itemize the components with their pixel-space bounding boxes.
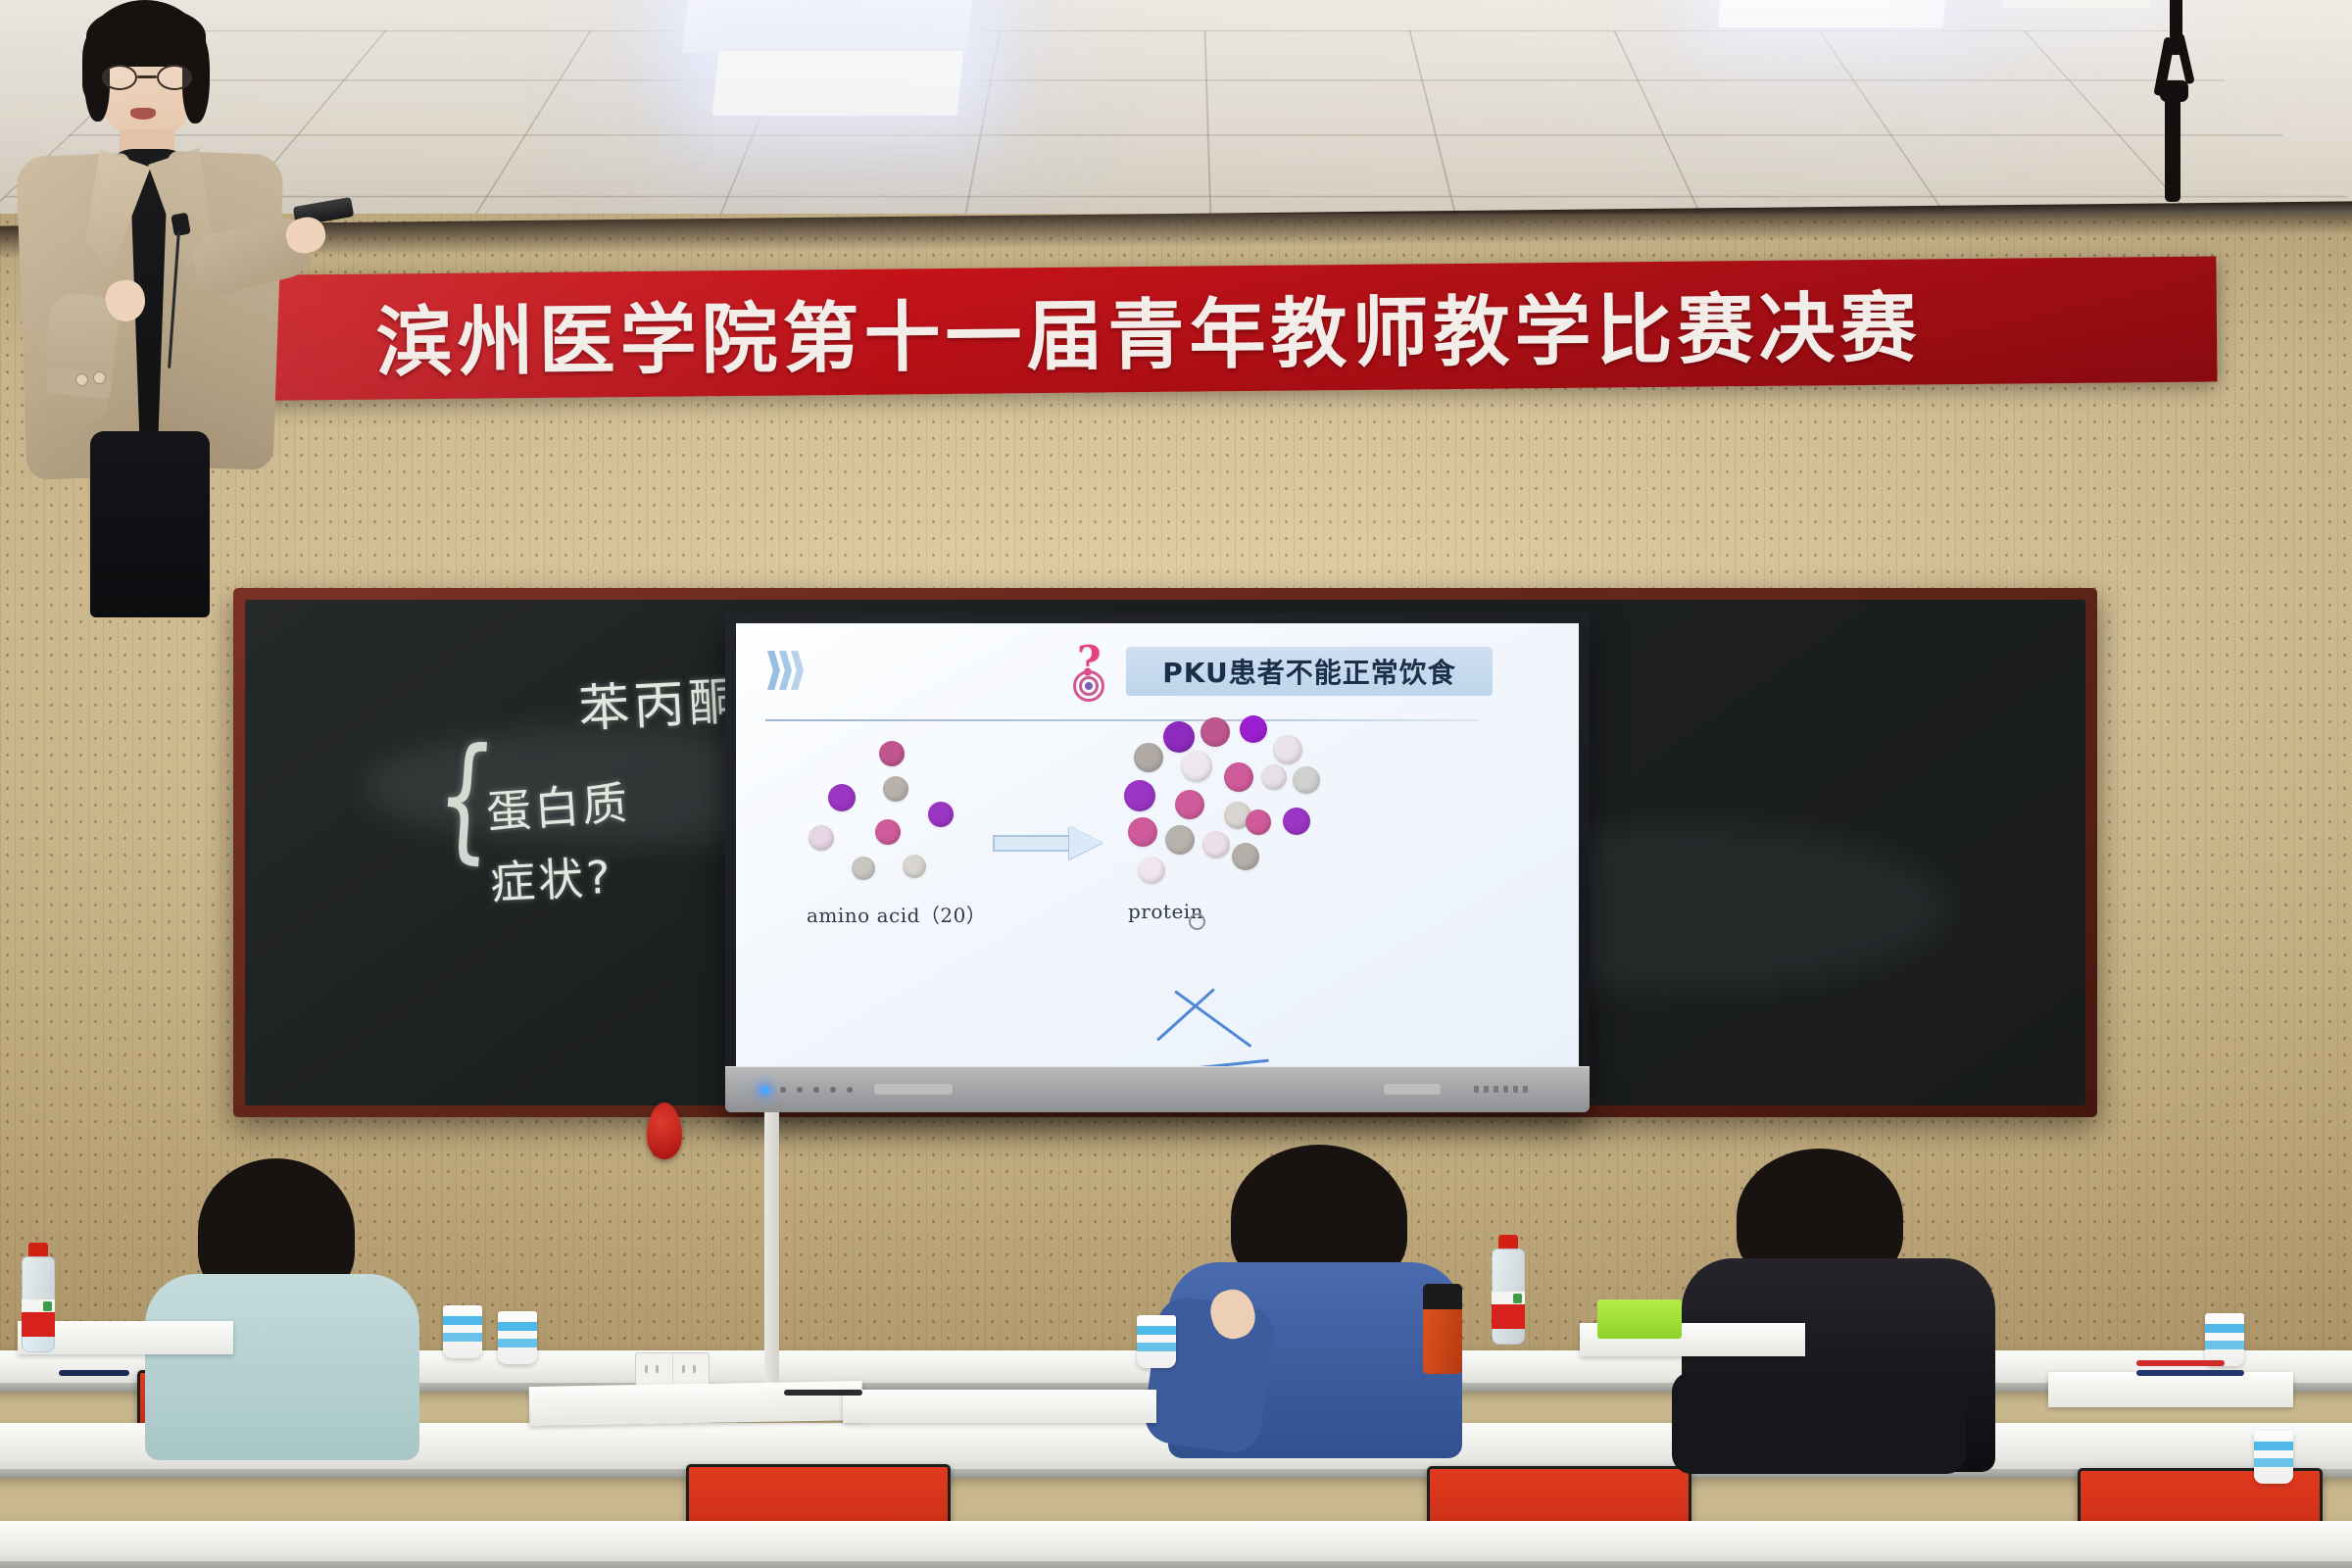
paper-cup[interactable]: [443, 1305, 482, 1358]
paper-stack[interactable]: [843, 1390, 1156, 1423]
presenter-trousers: [90, 431, 210, 617]
lapel-microphone-icon: [171, 213, 191, 237]
circle-cursor-icon[interactable]: [1189, 913, 1205, 930]
desk-row-frontmost: [0, 1521, 2352, 1568]
glasses-icon: [102, 65, 194, 90]
chalk-line-2: 症状?: [488, 842, 614, 912]
green-notebook[interactable]: [1597, 1299, 1682, 1339]
slide-screen[interactable]: ? PKU患者不能正常饮食: [736, 623, 1579, 1066]
pen[interactable]: [2136, 1360, 2225, 1366]
ink-annotation: [1157, 988, 1275, 1066]
pen[interactable]: [784, 1390, 862, 1396]
pen[interactable]: [59, 1370, 129, 1376]
amino-acid-cluster: [795, 741, 1001, 878]
bezel-buttons[interactable]: [780, 1087, 853, 1093]
classroom-scene: 滨州医学院第十一届青年教师教学比赛决赛 苯丙酮尿症(PKU) { 蛋白质 症状?…: [0, 0, 2352, 1568]
water-bottle[interactable]: [22, 1243, 55, 1352]
event-banner: 滨州医学院第十一届青年教师教学比赛决赛: [79, 257, 2217, 403]
paper-stack[interactable]: [2048, 1372, 2293, 1407]
pen[interactable]: [2136, 1370, 2244, 1376]
cable-conduit: [764, 1112, 779, 1406]
paper-cup[interactable]: [1137, 1315, 1176, 1368]
conversion-arrow-icon: [993, 829, 1108, 858]
chevron-right-icon: [767, 651, 803, 690]
water-bottle[interactable]: [1492, 1235, 1525, 1345]
smartboard-bezel: [725, 1066, 1590, 1112]
amino-acid-label: amino acid（20）: [807, 900, 986, 928]
paper-cup[interactable]: [2254, 1431, 2293, 1484]
audience-member-right: [1678, 1149, 2031, 1472]
paper-stack[interactable]: [529, 1381, 863, 1426]
slide-title-text: PKU患者不能正常饮食: [1162, 652, 1455, 691]
speaker-grill-icon: [1474, 1086, 1528, 1093]
ceiling: [0, 0, 2352, 227]
paper-cup[interactable]: [2205, 1313, 2244, 1366]
thermos[interactable]: [1423, 1284, 1462, 1374]
paper-cup[interactable]: [498, 1311, 537, 1364]
power-led-icon: [760, 1086, 769, 1095]
protein-cluster: [1118, 717, 1324, 894]
camera-boom-mount-icon: [2141, 0, 2210, 205]
interactive-smartboard[interactable]: ? PKU患者不能正常饮食: [725, 612, 1590, 1112]
chalk-line-1: 蛋白质: [484, 767, 632, 842]
banner-title: 滨州医学院第十一届青年教师教学比赛决赛: [375, 267, 1922, 391]
question-mark-target-icon: ?: [1071, 639, 1116, 706]
audience-left-clothing: [145, 1274, 419, 1460]
slide-title-box: PKU患者不能正常饮食: [1126, 647, 1493, 696]
ceiling-shading: [0, 0, 2352, 227]
slide-header: ? PKU患者不能正常饮食: [736, 635, 1579, 708]
audience-member-left: [118, 1158, 441, 1452]
wall-socket[interactable]: [635, 1352, 710, 1386]
